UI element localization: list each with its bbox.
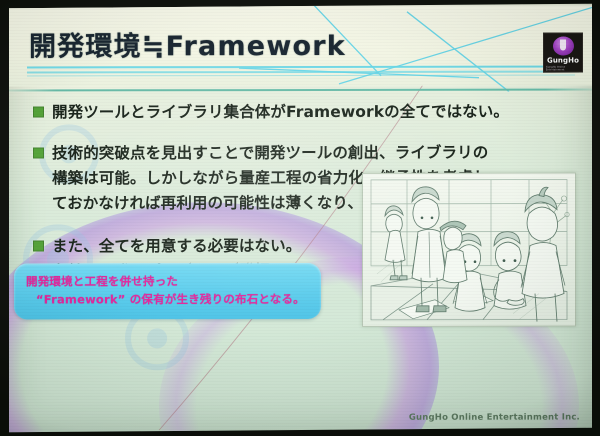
bullet-text: 開発ツールとライブラリ集合体がFrameworkの全てではない。 — [52, 100, 509, 126]
bullet-line: また、全てを用意する必要はない。 — [52, 234, 382, 260]
gungho-mark-icon — [553, 37, 574, 56]
logo-label: GungHo — [547, 57, 579, 66]
callout-line: 開発環境と工程を併せ持った — [26, 272, 321, 291]
logo-sublabel: GungHo Online Entertainment — [546, 66, 580, 71]
gungho-logo: GungHo GungHo Online Entertainment — [543, 33, 583, 73]
bullet-item: 開発ツールとライブラリ集合体がFrameworkの全てではない。 — [9, 99, 592, 125]
highlight-callout-box: 開発環境と工程を併せ持った “Framework” の保有が生き残りの布石となる… — [14, 263, 321, 320]
page-title: 開発環境≒Framework — [29, 24, 346, 64]
square-bullet-icon — [33, 106, 44, 117]
footer-credit: GungHo Online Entertainment Inc. — [409, 413, 580, 423]
slide-content: 開発環境≒Framework GungHo GungHo Online Ente… — [9, 5, 592, 430]
callout-line: “Framework” の保有が生き残りの布石となる。 — [26, 290, 321, 309]
presentation-slide: 開発環境≒Framework GungHo GungHo Online Ente… — [9, 4, 592, 433]
square-bullet-icon — [33, 147, 44, 158]
illustration-image — [362, 173, 576, 327]
sketch-artwork — [363, 174, 575, 326]
square-bullet-icon — [33, 240, 44, 251]
projected-slide-photo: 開発環境≒Framework GungHo GungHo Online Ente… — [0, 0, 600, 436]
bullet-line: 技術的突破点を見出すことで開発ツールの創出、ライブラリの — [52, 141, 489, 167]
bullet-line: 開発ツールとライブラリ集合体がFrameworkの全てではない。 — [52, 100, 509, 126]
